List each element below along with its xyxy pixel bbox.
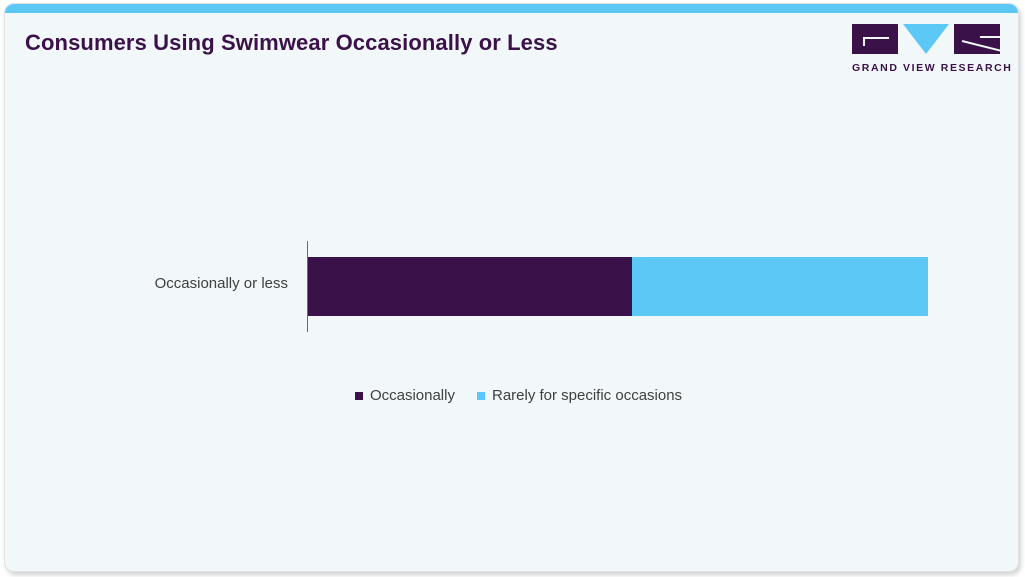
stacked-bar — [308, 257, 928, 316]
screenshot-canvas: Consumers Using Swimwear Occasionally or… — [0, 0, 1025, 577]
legend-item-occasionally[interactable]: Occasionally — [355, 387, 455, 404]
bar-segment-occasionally — [308, 257, 632, 316]
legend-swatch-icon — [355, 392, 363, 400]
legend-label: Rarely for specific occasions — [492, 387, 682, 404]
chart-legend: Occasionally Rarely for specific occasio… — [5, 387, 1018, 404]
bar-segment-rarely — [632, 257, 928, 316]
legend-swatch-icon — [477, 392, 485, 400]
category-axis-label: Occasionally or less — [155, 275, 288, 292]
legend-label: Occasionally — [370, 387, 455, 404]
legend-item-rarely[interactable]: Rarely for specific occasions — [477, 387, 682, 404]
chart-plot-area: Occasionally or less — [5, 4, 1018, 571]
chart-card: Consumers Using Swimwear Occasionally or… — [4, 3, 1019, 572]
